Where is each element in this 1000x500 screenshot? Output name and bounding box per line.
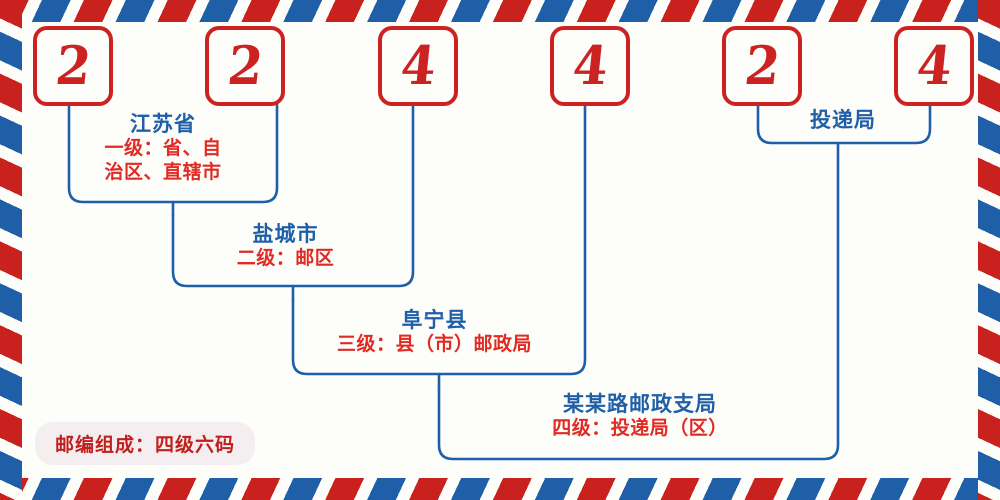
node-level2: 盐城市 二级：邮区 [198,222,373,271]
postcode-digit-2[interactable]: 2 [205,26,285,106]
postcode-digit-4[interactable]: 4 [550,26,630,106]
node-level1: 江苏省 一级：省、自 治区、直辖市 [78,112,248,184]
node-delivery: 投递局 [776,108,910,133]
node-level4-title: 某某路邮政支局 [506,392,774,417]
node-level1-sub: 一级：省、自 治区、直辖市 [78,137,248,185]
node-level4-sub: 四级：投递局（区） [506,417,774,441]
digit-glyph-2: 2 [225,40,265,93]
node-delivery-title: 投递局 [776,108,910,133]
postcode-digit-1[interactable]: 2 [33,26,113,106]
digit-glyph-5: 2 [742,40,782,93]
node-level3-sub-line1: 三级：县（市）邮政局 [312,333,557,357]
node-level1-sub-line2: 治区、直辖市 [78,161,248,185]
node-level2-title: 盐城市 [198,222,373,247]
node-level2-sub-line1: 二级：邮区 [198,247,373,271]
postcode-diagram: 2 2 4 4 2 4 江苏省 一级：省、自 治区、直辖市 盐城市 二级：邮区 … [0,0,1000,500]
digit-glyph-3: 4 [398,40,438,93]
digit-glyph-6: 4 [914,40,954,93]
node-level4: 某某路邮政支局 四级：投递局（区） [506,392,774,441]
legend-badge-text: 邮编组成：四级六码 [55,434,235,456]
node-level3: 阜宁县 三级：县（市）邮政局 [312,308,557,357]
digit-glyph-4: 4 [570,40,610,93]
postcode-digit-3[interactable]: 4 [378,26,458,106]
postcode-digit-5[interactable]: 2 [722,26,802,106]
node-level4-sub-line1: 四级：投递局（区） [506,417,774,441]
node-level1-sub-line1: 一级：省、自 [78,137,248,161]
legend-badge: 邮编组成：四级六码 [35,422,255,465]
node-level3-title: 阜宁县 [312,308,557,333]
node-level3-sub: 三级：县（市）邮政局 [312,333,557,357]
postcode-digit-6[interactable]: 4 [894,26,974,106]
digit-glyph-1: 2 [53,40,93,93]
node-level1-title: 江苏省 [78,112,248,137]
node-level2-sub: 二级：邮区 [198,247,373,271]
